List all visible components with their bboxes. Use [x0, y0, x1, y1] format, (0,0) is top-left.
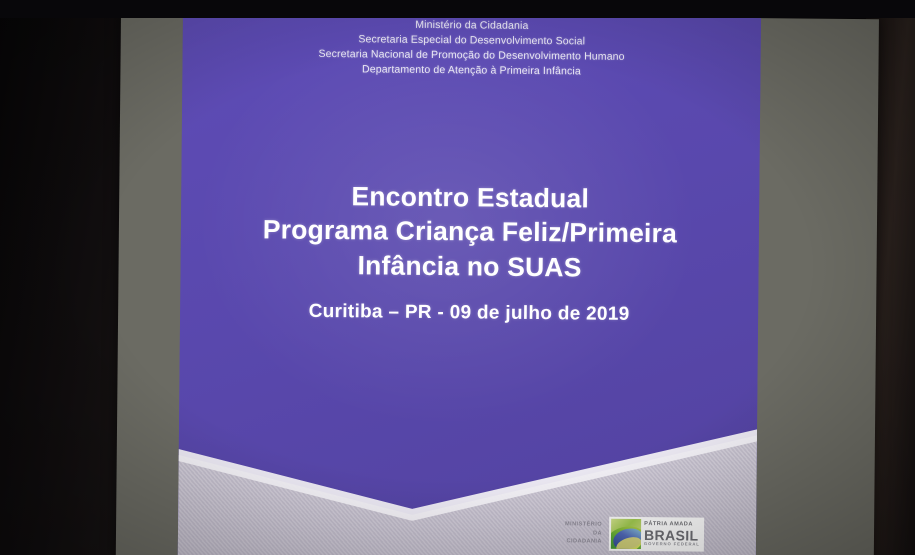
presentation-slide: Ministério da Cidadania Secretaria Espec…: [178, 13, 761, 555]
room-wall-top: [0, 0, 915, 18]
title-line-1: Encontro Estadual: [181, 178, 759, 218]
projection-screen: Ministério da Cidadania Secretaria Espec…: [116, 12, 879, 555]
brasil-logo-text: PÁTRIA AMADA BRASIL GOVERNO FEDERAL: [644, 522, 700, 546]
governo-federal-subtext: GOVERNO FEDERAL: [644, 542, 700, 547]
title-line-3: Infância no SUAS: [180, 246, 758, 286]
slide-header: Ministério da Cidadania Secretaria Espec…: [182, 16, 761, 81]
room-wall-left: [0, 0, 128, 555]
governo-federal-logo: PÁTRIA AMADA BRASIL GOVERNO FEDERAL: [609, 517, 704, 552]
brazil-flag-swoosh-icon: [611, 519, 641, 549]
brasil-wordmark: BRASIL: [644, 528, 700, 543]
projected-slide-photo: Ministério da Cidadania Secretaria Espec…: [0, 0, 915, 555]
title-line-2: Programa Criança Feliz/Primeira: [181, 212, 759, 252]
ministerio-logo-line-1: MINISTÉRIO DA: [556, 520, 602, 538]
ministerio-cidadania-logo: MINISTÉRIO DA CIDADANIA: [556, 520, 602, 546]
slide-footer-logos: MINISTÉRIO DA CIDADANIA PÁTRIA AMADA BRA…: [556, 508, 756, 555]
slide-title: Encontro Estadual Programa Criança Feliz…: [180, 178, 759, 287]
ministerio-logo-line-2: CIDADANIA: [556, 538, 602, 547]
